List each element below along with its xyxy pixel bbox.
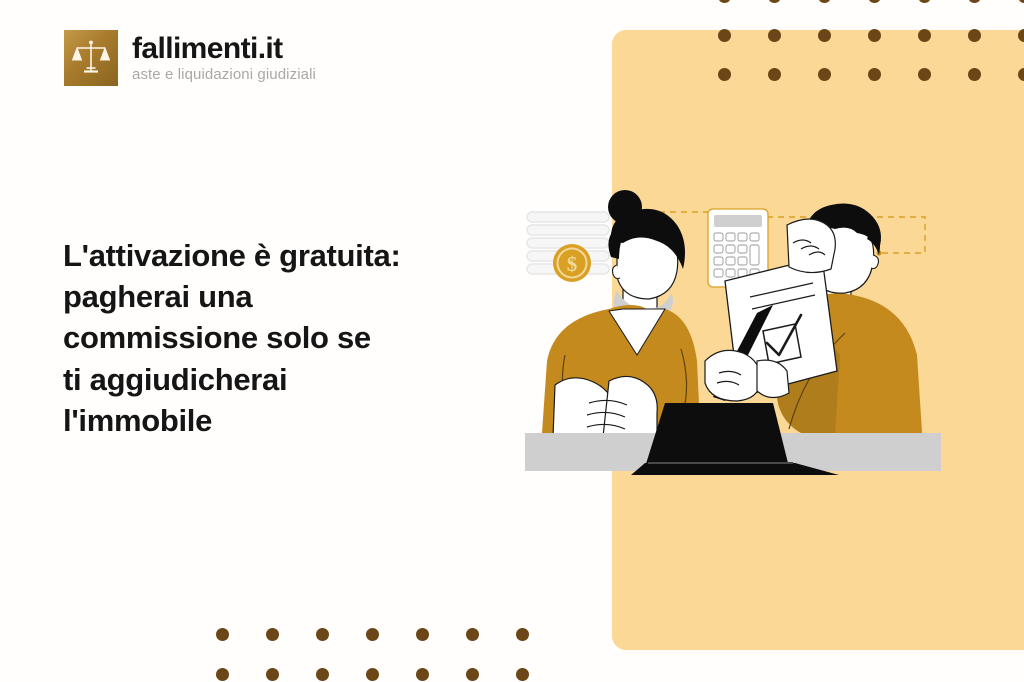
dot — [316, 628, 329, 641]
dot — [968, 0, 981, 3]
dot — [718, 0, 731, 3]
dot — [918, 68, 931, 81]
dot — [918, 29, 931, 42]
page-title: L'attivazione è gratuita: pagherai una c… — [63, 235, 483, 441]
brand-tagline: aste e liquidazioni giudiziali — [132, 67, 316, 84]
dot — [366, 668, 379, 681]
dot — [918, 0, 931, 3]
dot — [768, 29, 781, 42]
dot — [868, 0, 881, 3]
dot-pattern-top-right — [718, 0, 1024, 107]
dot — [1018, 29, 1024, 42]
dot — [266, 668, 279, 681]
dot — [366, 628, 379, 641]
promo-banner: fallimenti.it aste e liquidazioni giudiz… — [0, 0, 1024, 682]
coin-icon: $ — [553, 244, 591, 282]
dot — [868, 68, 881, 81]
dot — [818, 29, 831, 42]
dot — [416, 628, 429, 641]
dot — [216, 628, 229, 641]
dot — [516, 668, 529, 681]
dot — [718, 29, 731, 42]
dot — [968, 29, 981, 42]
dot — [466, 628, 479, 641]
hand-top — [787, 219, 835, 273]
dot — [768, 68, 781, 81]
dot — [768, 0, 781, 3]
hero-illustration: $ — [505, 185, 965, 485]
brand-name: fallimenti.it — [132, 33, 316, 65]
dot — [718, 68, 731, 81]
svg-text:$: $ — [567, 252, 578, 276]
dot — [416, 668, 429, 681]
dot — [266, 628, 279, 641]
dot — [868, 29, 881, 42]
dot — [1018, 0, 1024, 3]
dot — [818, 68, 831, 81]
dot — [216, 668, 229, 681]
dot — [818, 0, 831, 3]
scales-of-justice-icon — [64, 30, 118, 86]
dot — [516, 628, 529, 641]
brand-logo[interactable]: fallimenti.it aste e liquidazioni giudiz… — [64, 30, 316, 86]
dot — [316, 668, 329, 681]
dot-pattern-bottom-left — [216, 628, 566, 682]
dot — [968, 68, 981, 81]
dot — [1018, 68, 1024, 81]
dot — [466, 668, 479, 681]
